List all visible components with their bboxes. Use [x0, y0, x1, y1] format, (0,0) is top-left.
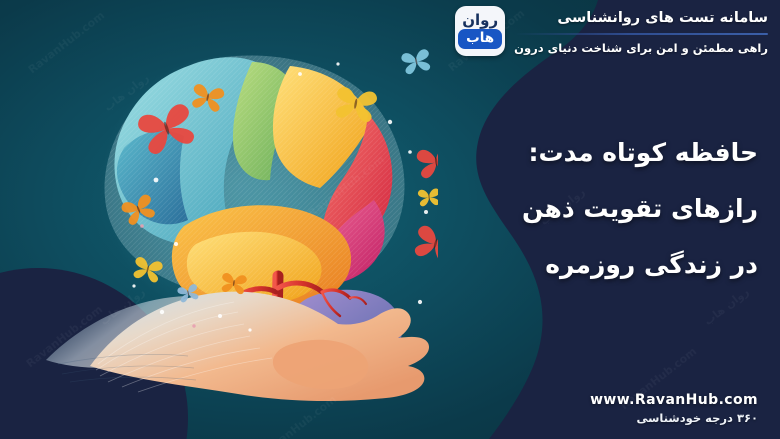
- headline-line-2: رازهای تقویت ذهن: [428, 196, 758, 221]
- butterfly-icon: [177, 283, 200, 303]
- sparkle-dot: [160, 310, 164, 314]
- headline-block: حافظه کوتاه مدت: رازهای تقویت ذهن در زند…: [428, 140, 758, 277]
- header-text-block: سامانه تست های روانشناسی راهی مطمئن و ام…: [514, 6, 768, 56]
- sparkle-dot: [248, 328, 251, 331]
- butterfly-icon: [333, 86, 378, 123]
- sparkle-dot: [174, 242, 178, 246]
- butterfly-icon: [190, 83, 225, 113]
- headline-line-1: حافظه کوتاه مدت:: [428, 140, 758, 165]
- sparkle-dot: [154, 178, 159, 183]
- sparkle-dot: [218, 314, 222, 318]
- butterfly-icon: [131, 256, 163, 284]
- sparkle-dot: [140, 224, 144, 228]
- ravanhub-logo[interactable]: روان هاب: [455, 6, 505, 56]
- butterfly-group: [120, 48, 438, 303]
- butterfly-icon: [401, 48, 433, 75]
- logo-word-ravan: روان: [462, 13, 498, 28]
- butterflies-and-sparkles-layer: [38, 30, 438, 430]
- footer-tagline: ۳۶۰ درجه خودشناسی: [590, 410, 758, 427]
- sparkle-dot: [408, 150, 412, 154]
- butterfly-icon: [136, 102, 199, 157]
- sparkle-dot: [132, 284, 135, 287]
- headline-line-3: در زندگی روزمره: [428, 252, 758, 277]
- sparkle-dot: [418, 300, 422, 304]
- butterfly-icon: [220, 272, 247, 294]
- sparkle-dot: [192, 324, 195, 327]
- site-tagline-primary: سامانه تست های روانشناسی: [514, 8, 768, 29]
- sparkle-dot: [388, 120, 392, 124]
- butterfly-icon: [120, 193, 158, 227]
- website-url[interactable]: www.RavanHub.com: [590, 391, 758, 410]
- sparkle-dot: [298, 72, 302, 76]
- site-tagline-secondary: راهی مطمئن و امن برای شناخت دنیای درون: [514, 40, 768, 56]
- banner-canvas: سامانه تست های روانشناسی راهی مطمئن و ام…: [0, 0, 780, 439]
- header-bar: سامانه تست های روانشناسی راهی مطمئن و ام…: [455, 6, 768, 56]
- sparkle-dot: [336, 62, 339, 65]
- footer-block: www.RavanHub.com ۳۶۰ درجه خودشناسی: [590, 391, 758, 427]
- logo-word-hub: هاب: [458, 29, 502, 50]
- header-divider-rule: [514, 33, 768, 35]
